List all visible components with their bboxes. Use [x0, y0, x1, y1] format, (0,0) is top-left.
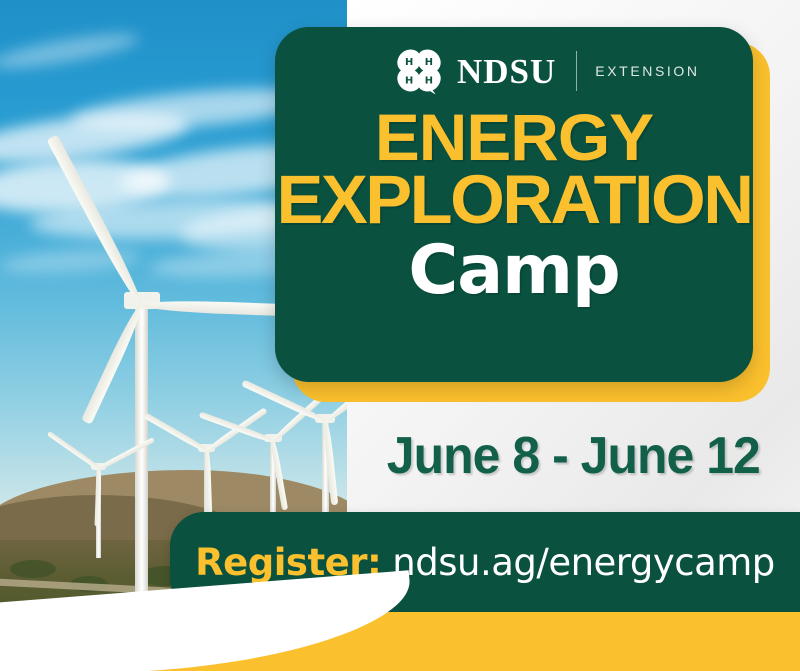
headline-line-3: Camp — [275, 237, 753, 305]
svg-text:H: H — [425, 75, 433, 86]
svg-text:H: H — [405, 75, 413, 86]
camp-date-range: June 8 - June 12 — [387, 426, 760, 486]
date-band: June 8 - June 12 — [347, 404, 800, 508]
headline-line-2: EXPLORATION — [275, 168, 753, 231]
headline-block: ENERGY EXPLORATION Camp — [275, 107, 753, 305]
hero-panel: H H H H NDSU EXTENSION ENERGY EXPLORATIO… — [275, 27, 753, 382]
svg-text:H: H — [405, 57, 413, 68]
headline-line-1: ENERGY — [275, 107, 753, 168]
logo-divider — [576, 51, 577, 91]
poster-canvas: H H H H NDSU EXTENSION ENERGY EXPLORATIO… — [0, 0, 800, 671]
register-url[interactable]: ndsu.ag/energycamp — [392, 541, 775, 584]
turbine-tower — [135, 300, 148, 640]
ndsu-wordmark: NDSU — [457, 54, 556, 89]
svg-text:H: H — [425, 57, 433, 68]
four-h-clover-icon: H H H H — [393, 46, 445, 96]
shrub — [10, 560, 56, 578]
extension-wordmark: EXTENSION — [595, 63, 699, 79]
ndsu-extension-logo: H H H H NDSU EXTENSION — [393, 44, 700, 98]
